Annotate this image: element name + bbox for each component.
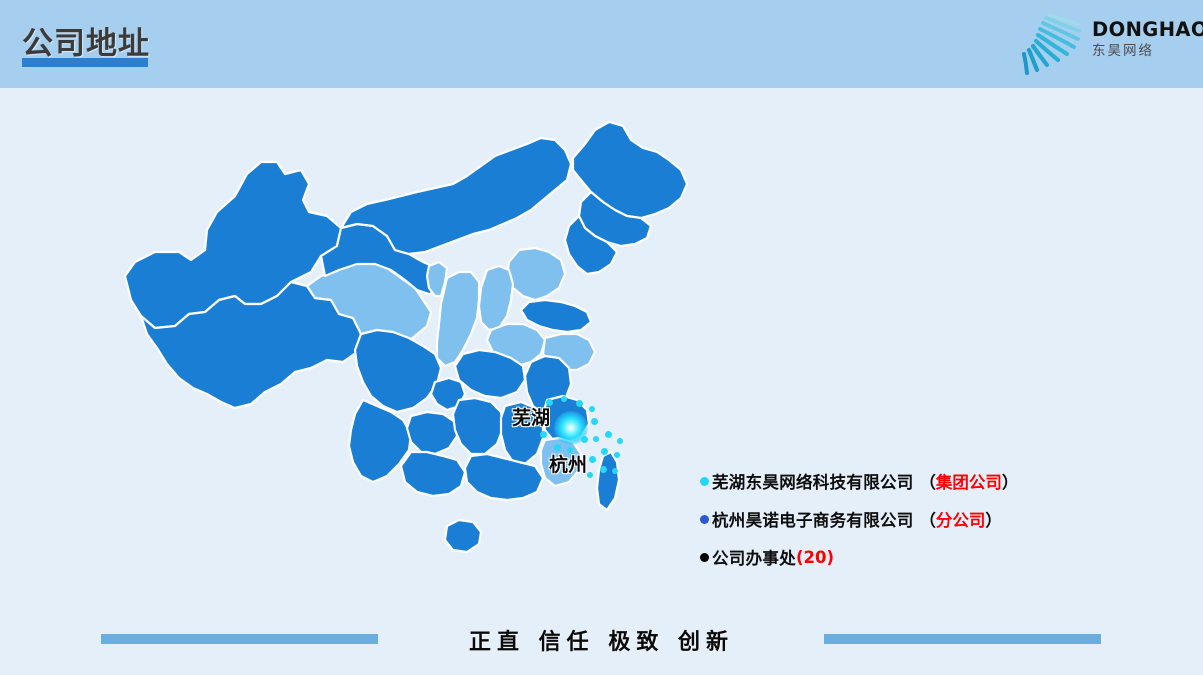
legend-paren-open: （ (914, 469, 936, 493)
donghao-fan-logo-icon (1016, 8, 1094, 78)
page-title: 公司地址 (22, 18, 150, 63)
office-dot[interactable] (576, 460, 582, 466)
legend-bullet-icon (700, 477, 709, 486)
legend-paren-close: ） (1002, 469, 1019, 493)
footer-slogan: 正直 信任 极致 创新 (0, 624, 1203, 656)
legend-bullet-icon (700, 515, 709, 524)
logo-subtitle: 东昊网络 (1092, 45, 1188, 59)
map-legend: 芜湖东昊网络科技有限公司 （ 集团公司 ） 杭州昊诺电子商务有限公司 （ 分公司… (700, 462, 1120, 576)
company-logo: DONGHAO 东昊网络 (1006, 6, 1191, 80)
province-jiangxi (501, 402, 543, 464)
office-dot[interactable] (589, 456, 596, 463)
province-sichuan (355, 330, 441, 412)
office-dot[interactable] (542, 415, 548, 421)
office-dot[interactable] (614, 452, 620, 458)
office-dot[interactable] (591, 418, 598, 425)
slide-header: 公司地址 (0, 0, 1203, 88)
office-dot[interactable] (617, 438, 623, 444)
office-dot[interactable] (587, 472, 593, 478)
province-shanxi (479, 266, 513, 330)
legend-item-offices[interactable]: 公司办事处 (20) (700, 538, 1120, 576)
office-dot[interactable] (600, 466, 607, 473)
province-hebei (507, 248, 565, 300)
legend-label: 杭州昊诺电子商务有限公司 (712, 507, 914, 531)
office-dot[interactable] (540, 431, 547, 438)
office-dot[interactable] (581, 436, 588, 443)
legend-bullet-icon (700, 553, 709, 562)
legend-paren-open: （ (914, 507, 936, 531)
province-guizhou (407, 412, 457, 454)
legend-paren-close: ） (985, 507, 1002, 531)
office-dot[interactable] (546, 399, 553, 406)
office-dot[interactable] (589, 406, 595, 412)
title-underline (22, 58, 148, 67)
legend-item-group-company[interactable]: 芜湖东昊网络科技有限公司 （ 集团公司 ） (700, 462, 1120, 500)
province-guangdong (465, 454, 543, 500)
slide-company-address: 公司地址 (0, 0, 1203, 675)
china-map-svg (95, 100, 755, 610)
province-hunan (453, 398, 503, 454)
office-dot[interactable] (576, 400, 583, 407)
office-dot[interactable] (605, 431, 612, 438)
legend-label: 芜湖东昊网络科技有限公司 (712, 469, 914, 493)
legend-tag: (20) (796, 548, 834, 567)
legend-tag: 分公司 (936, 507, 986, 531)
province-hainan (445, 520, 481, 552)
province-taiwan (597, 452, 619, 510)
legend-tag: 集团公司 (936, 469, 1002, 493)
office-dot[interactable] (593, 436, 599, 442)
logo-name: DONGHAO (1092, 20, 1188, 40)
legend-item-branch-company[interactable]: 杭州昊诺电子商务有限公司 （ 分公司 ） (700, 500, 1120, 538)
office-dot[interactable] (554, 444, 561, 451)
office-dot[interactable] (561, 396, 567, 402)
office-dot[interactable] (567, 447, 573, 453)
office-dot[interactable] (601, 448, 608, 455)
logo-text-block: DONGHAO 东昊网络 (1092, 20, 1188, 58)
province-guangxi (401, 452, 465, 496)
office-dot[interactable] (612, 468, 618, 474)
province-fujian (541, 438, 581, 486)
legend-label: 公司办事处 (712, 545, 796, 569)
china-map[interactable]: 芜湖 杭州 (95, 100, 755, 610)
